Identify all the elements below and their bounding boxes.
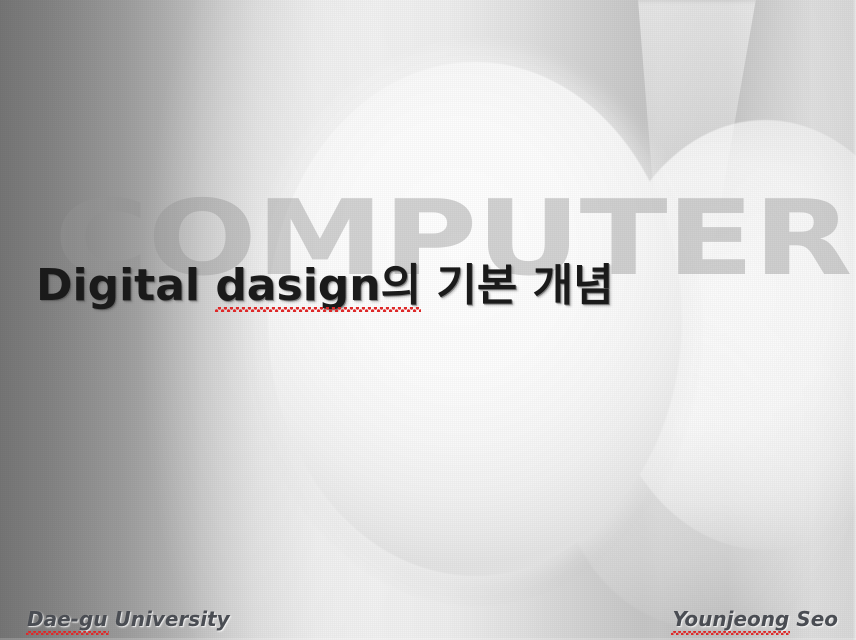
slide-title[interactable]: Digital dasign의 기본 개념 <box>36 258 614 314</box>
footer-author-rest: Seo <box>789 607 838 631</box>
footer-university-rest: University <box>108 607 230 631</box>
title-segment-korean: 기본 개념 <box>421 260 614 311</box>
footer-university-misspelled: Dae-gu <box>27 606 108 632</box>
footer-author-misspelled: Younjeong <box>672 606 789 632</box>
footer-university[interactable]: Dae-gu University <box>27 606 230 632</box>
presentation-slide: COMPUTER CAD Digital dasign의 기본 개념 Dae-g… <box>0 0 856 640</box>
footer-author[interactable]: Younjeong Seo <box>672 606 838 632</box>
decorative-sphere-main <box>268 62 682 576</box>
title-segment-latin: Digital <box>36 260 215 311</box>
title-segment-misspelled: dasign의 <box>215 258 421 314</box>
